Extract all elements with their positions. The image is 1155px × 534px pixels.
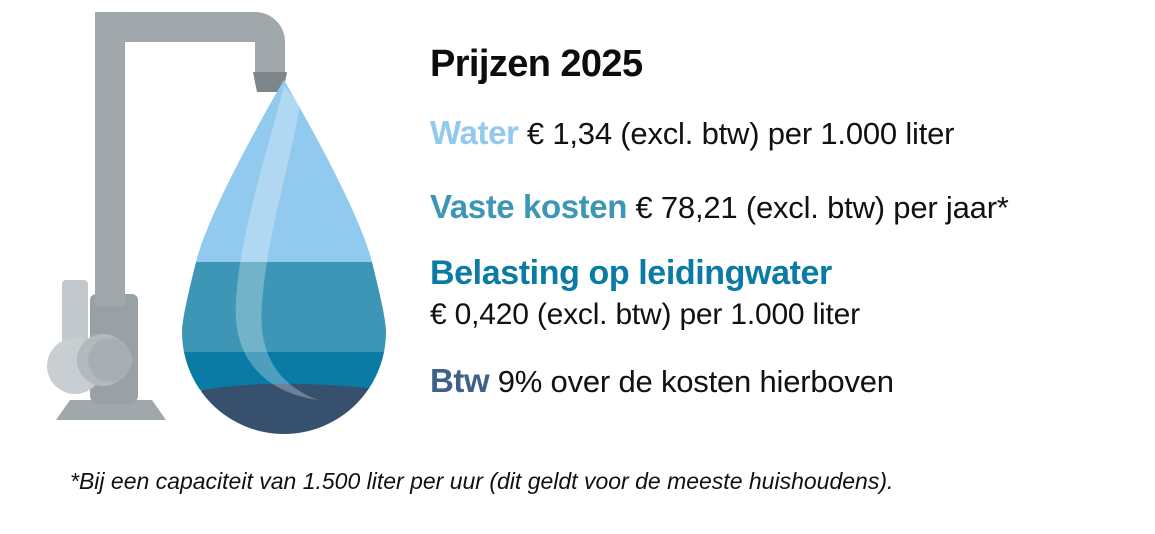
- price-row-belasting-value: € 0,420 (excl. btw) per 1.000 liter: [430, 298, 860, 332]
- price-value-water: € 1,34 (excl. btw) per 1.000 liter: [527, 116, 954, 151]
- page-title: Prijzen 2025: [430, 43, 643, 86]
- price-row-water: Water € 1,34 (excl. btw) per 1.000 liter: [430, 114, 954, 152]
- faucet-valve-collar-inner: [88, 338, 132, 382]
- price-row-btw: Btw 9% over de kosten hierboven: [430, 362, 894, 400]
- footnote: *Bij een capaciteit van 1.500 liter per …: [70, 468, 893, 495]
- price-label-water: Water: [430, 114, 518, 151]
- drop-band-vaste-kosten: [170, 262, 400, 352]
- water-drop: [170, 70, 400, 440]
- price-row-vaste-kosten: Vaste kosten € 78,21 (excl. btw) per jaa…: [430, 188, 1009, 226]
- price-text-column: Prijzen 2025 Water € 1,34 (excl. btw) pe…: [430, 0, 1130, 440]
- price-label-btw: Btw: [430, 362, 489, 399]
- drop-band-btw: [170, 384, 400, 440]
- infographic-canvas: Prijzen 2025 Water € 1,34 (excl. btw) pe…: [0, 0, 1155, 534]
- price-label-vaste-kosten: Vaste kosten: [430, 188, 627, 225]
- price-value-btw: 9% over de kosten hierboven: [498, 364, 894, 399]
- price-value-vaste-kosten: € 78,21 (excl. btw) per jaar*: [635, 190, 1008, 225]
- faucet-riser-pipe: [95, 12, 125, 306]
- price-value-belasting-op-leidingwater: € 0,420 (excl. btw) per 1.000 liter: [430, 298, 860, 331]
- faucet-body-foot: [96, 390, 132, 404]
- price-label-belasting-op-leidingwater: Belasting op leidingwater: [430, 254, 832, 292]
- price-row-belasting-op-leidingwater: Belasting op leidingwater: [430, 254, 832, 293]
- faucet-with-water-drop-illustration: [0, 0, 420, 440]
